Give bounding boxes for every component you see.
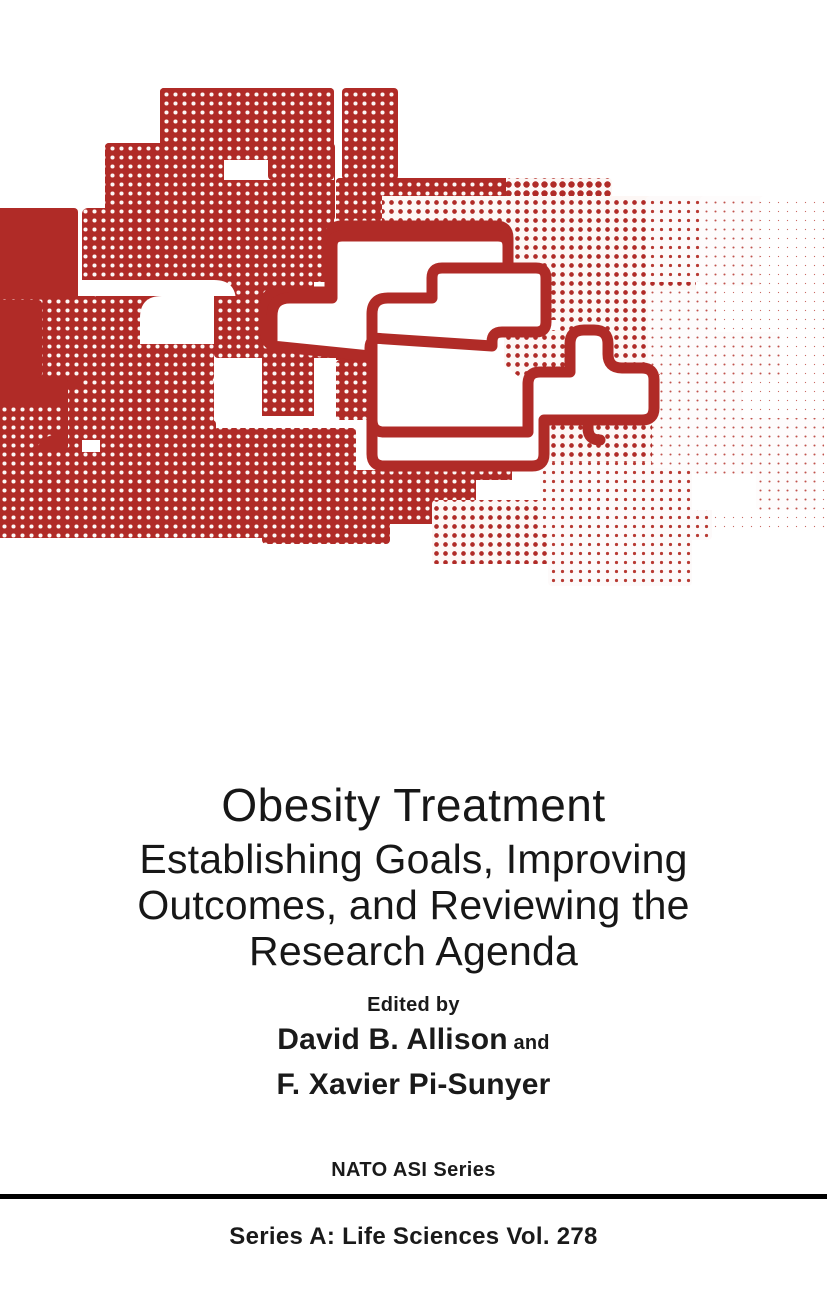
subtitle-line-1: Establishing Goals, Improving <box>70 836 757 882</box>
subtitle-line-2: Outcomes, and Reviewing the <box>70 882 757 928</box>
page-title: Obesity Treatment <box>0 778 827 832</box>
editor-name-1: David B. Allison <box>277 1023 507 1056</box>
page-subtitle: Establishing Goals, Improving Outcomes, … <box>0 836 827 974</box>
series-volume: Series A: Life Sciences Vol. 278 <box>0 1222 827 1252</box>
series-block: NATO ASI Series <box>0 1158 827 1182</box>
series-divider-rule <box>0 1194 827 1199</box>
cover-artwork <box>0 0 827 600</box>
editor-conjunction-label: and <box>514 1032 550 1054</box>
edited-by-label: Edited by <box>0 993 827 1017</box>
title-block: Obesity Treatment Establishing Goals, Im… <box>0 778 827 974</box>
editor-name-2-row: F. Xavier Pi-Sunyer <box>0 1066 827 1104</box>
editor-name-2: F. Xavier Pi-Sunyer <box>277 1068 551 1101</box>
series-volume-block: Series A: Life Sciences Vol. 278 <box>0 1222 827 1252</box>
editor-name-1-row: David B. Allison and <box>0 1021 827 1062</box>
subtitle-line-3: Research Agenda <box>70 928 757 974</box>
series-name: NATO ASI Series <box>0 1158 827 1182</box>
editors-block: Edited by David B. Allison and F. Xavier… <box>0 993 827 1104</box>
